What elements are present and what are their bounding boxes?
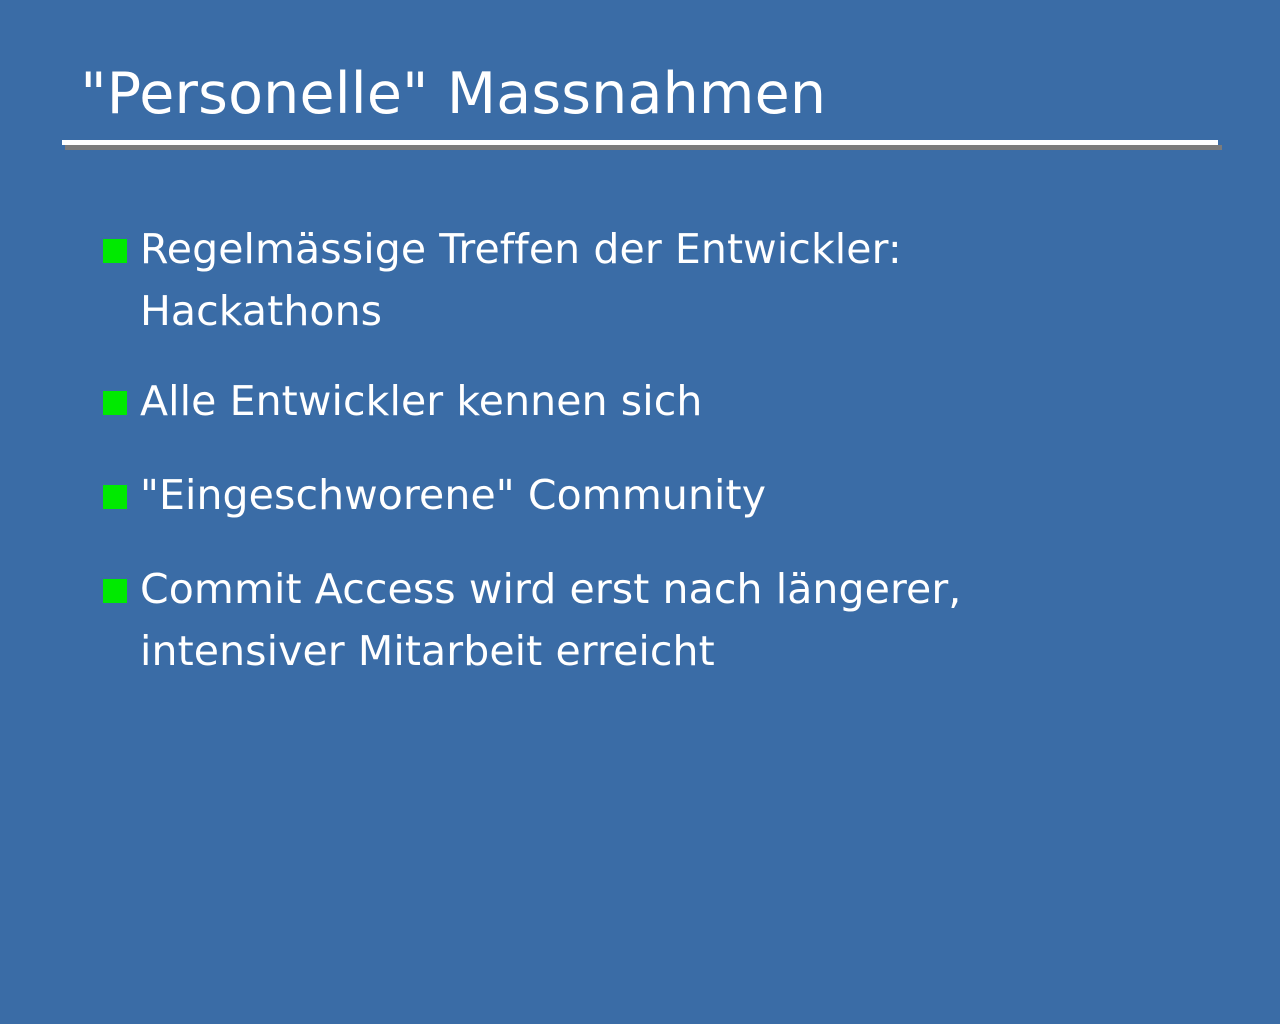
page-title: "Personelle" Massnahmen [62, 58, 1222, 130]
title-underline-shadow [65, 145, 1222, 150]
green-square-bullet-icon [103, 391, 127, 415]
list-item: Commit Access wird erst nach längerer, i… [103, 558, 1103, 682]
green-square-bullet-icon [103, 239, 127, 263]
title-underline [62, 140, 1222, 152]
green-square-bullet-icon [103, 485, 127, 509]
slide-title-block: "Personelle" Massnahmen [62, 58, 1222, 130]
list-item-label: Commit Access wird erst nach längerer, i… [140, 558, 1040, 682]
presentation-slide: "Personelle" Massnahmen Regelmässige Tre… [0, 0, 1280, 1024]
green-square-bullet-icon [103, 579, 127, 603]
bullet-list: Regelmässige Treffen der Entwickler: Hac… [103, 218, 1103, 682]
list-item-label: Alle Entwickler kennen sich [140, 370, 1040, 432]
list-item: Regelmässige Treffen der Entwickler: Hac… [103, 218, 1103, 342]
list-item: Alle Entwickler kennen sich [103, 370, 1103, 432]
list-item-label: Regelmässige Treffen der Entwickler: Hac… [140, 218, 1020, 342]
list-item: "Eingeschworene" Community [103, 464, 1103, 526]
list-item-label: "Eingeschworene" Community [140, 464, 1040, 526]
title-underline-bar [62, 140, 1218, 145]
